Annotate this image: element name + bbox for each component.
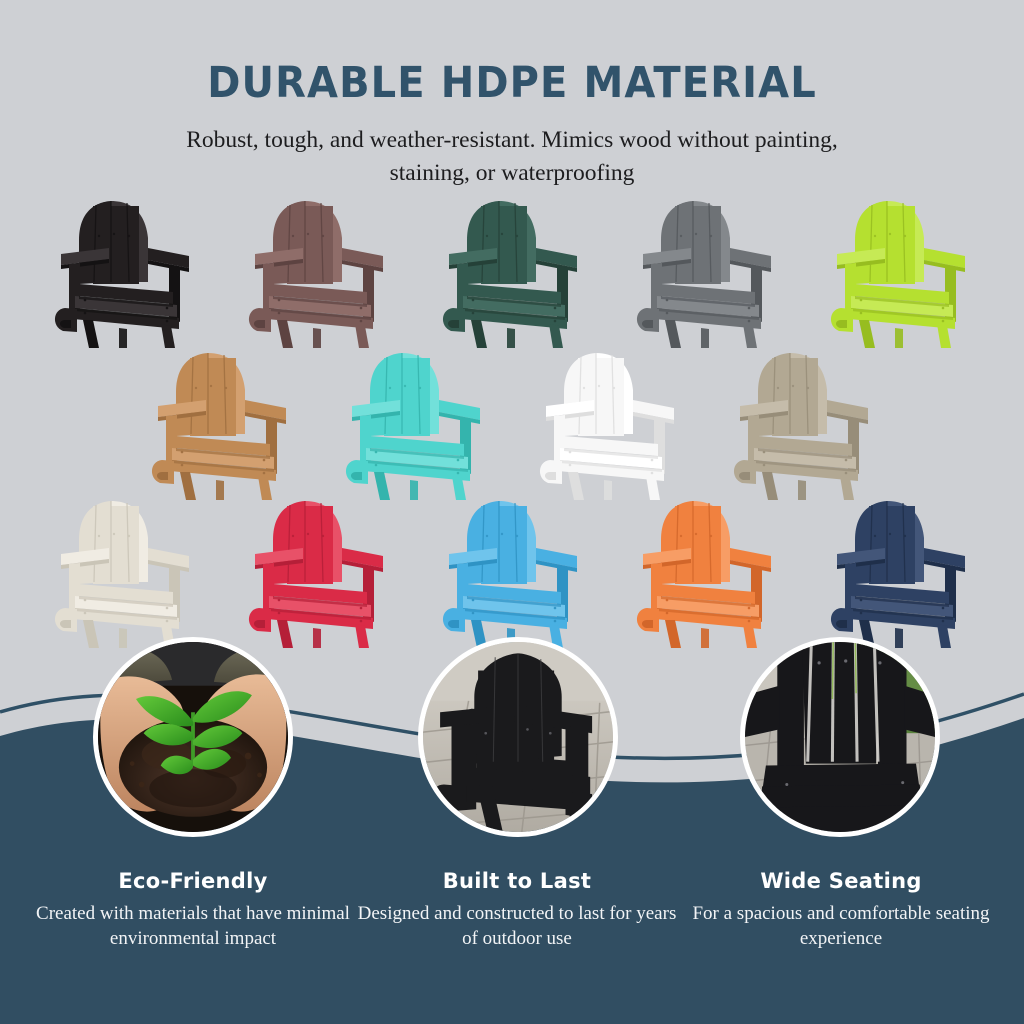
page-title: DURABLE HDPE MATERIAL (36, 58, 988, 108)
chair-navy (825, 496, 975, 648)
chair-dark-green (437, 196, 587, 348)
chair-lime-green (825, 196, 975, 348)
feature-title: Wide Seating (676, 869, 1006, 893)
chair-row-3 (0, 496, 1024, 648)
infographic-canvas: DURABLE HDPE MATERIAL Robust, tough, and… (0, 0, 1024, 1024)
feature-description: For a spacious and comfortable seating e… (676, 901, 1006, 951)
feature-title: Built to Last (352, 869, 682, 893)
chair-red (243, 496, 393, 648)
chair-row-2 (0, 348, 1024, 500)
chair-teak (146, 348, 296, 500)
chair-gray (631, 196, 781, 348)
page-subtitle: Robust, tough, and weather-resistant. Mi… (152, 124, 872, 191)
feature-built-to-last: Built to Last Designed and constructed t… (352, 869, 682, 951)
chair-light-blue (437, 496, 587, 648)
chair-white (534, 348, 684, 500)
feature-title: Eco-Friendly (28, 869, 358, 893)
chair-black (49, 196, 199, 348)
feature-image-eco-friendly (93, 637, 293, 837)
feature-eco-friendly: Eco-Friendly Created with materials that… (28, 869, 358, 951)
feature-wide-seating: Wide Seating For a spacious and comforta… (676, 869, 1006, 951)
feature-image-built-to-last (418, 637, 618, 837)
chair-ivory (49, 496, 199, 648)
feature-description: Designed and constructed to last for yea… (352, 901, 682, 951)
chair-brown (243, 196, 393, 348)
chair-orange (631, 496, 781, 648)
feature-description: Created with materials that have minimal… (28, 901, 358, 951)
chair-row-1 (0, 196, 1024, 348)
chair-turquoise (340, 348, 490, 500)
feature-image-wide-seating (740, 637, 940, 837)
chair-khaki (728, 348, 878, 500)
